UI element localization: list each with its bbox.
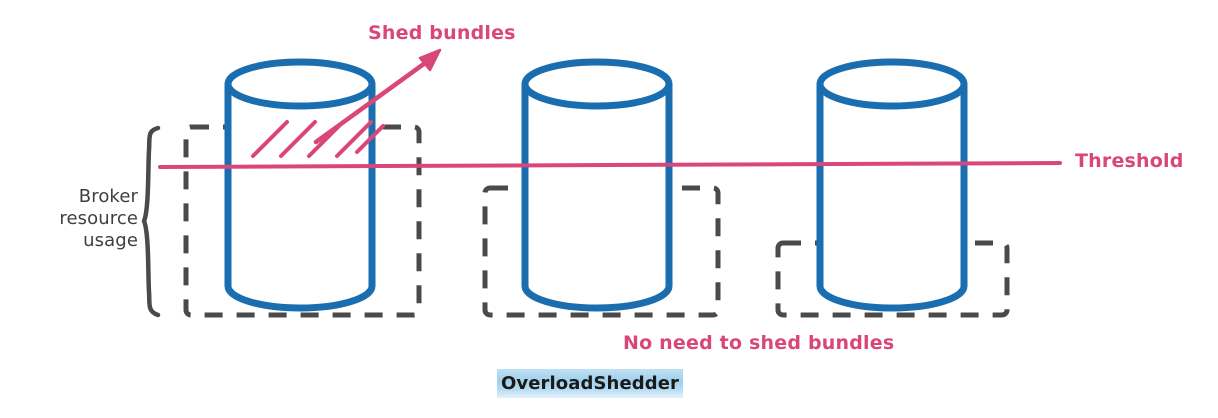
broker-usage-brace: [144, 128, 158, 315]
cylinder-broker-1: [228, 62, 372, 308]
no-need-to-shed-bundles-label: No need to shed bundles: [623, 332, 894, 355]
cylinder-broker-3: [820, 62, 964, 308]
overload-shedder-chip: OverloadShedder: [497, 369, 683, 398]
threshold-label: Threshold: [1075, 150, 1184, 173]
diagram-graphics: [0, 0, 1218, 418]
diagram-canvas: Brokerresourceusage Shed bundles Thresho…: [0, 0, 1218, 418]
cylinder-broker-2: [525, 62, 669, 308]
shed-bundles-label: Shed bundles: [368, 22, 516, 45]
broker-resource-usage-label: Brokerresourceusage: [28, 186, 138, 252]
